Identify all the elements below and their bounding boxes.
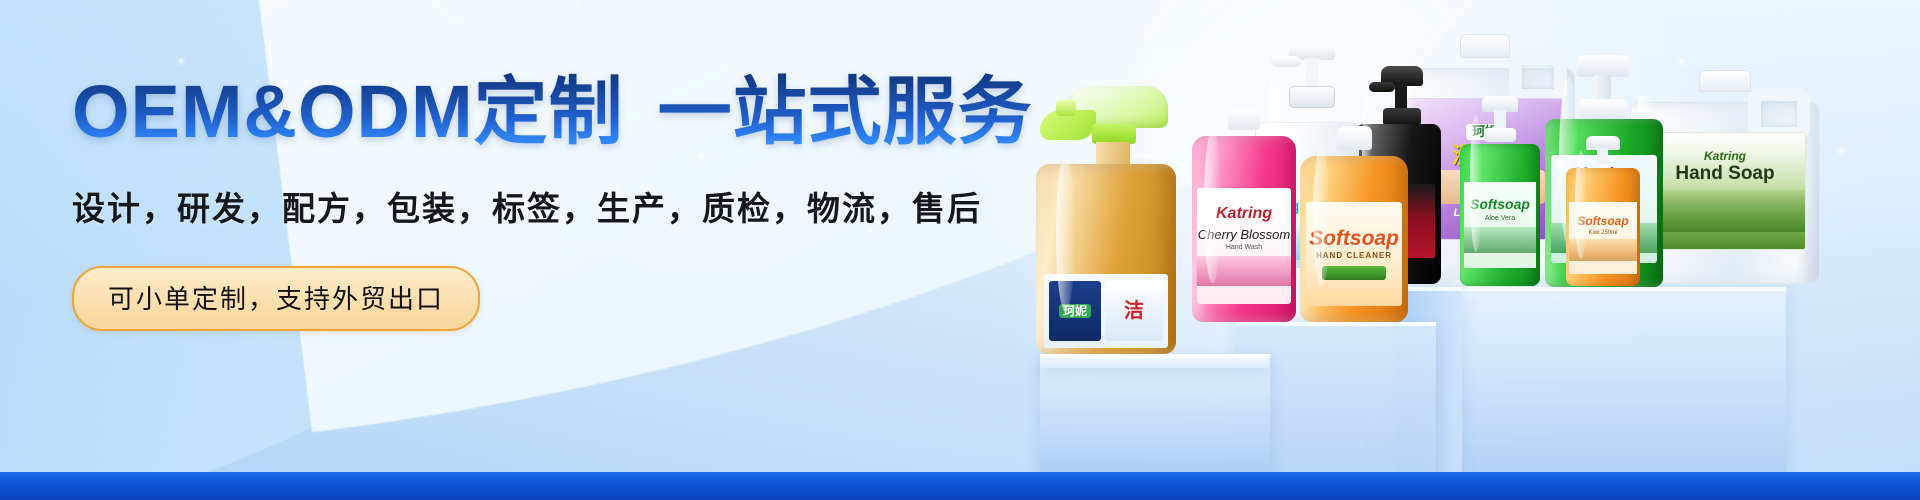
spray-bottle-brand: 珂妮 bbox=[1059, 304, 1091, 319]
product-stage: Katring Hand Soap 珂妮 洗手液 Liquid Soap bbox=[1000, 42, 1920, 472]
cherry-blossom-variant: Cherry Blossom bbox=[1198, 228, 1290, 242]
small-order-badge[interactable]: 可小单定制，支持外贸出口 bbox=[72, 266, 480, 331]
softsoap-orange-label: Softsoap HAND CLEANER bbox=[1306, 202, 1402, 306]
softsoap-green-bottle: Softsoap Aloe Vera bbox=[1460, 96, 1540, 286]
cherry-blossom-sub: Hand Wash bbox=[1226, 244, 1262, 251]
softsoap-green-brand: Softsoap bbox=[1470, 197, 1530, 212]
pedestal-left-top bbox=[1040, 354, 1270, 368]
softsoap-orange-small-label: Softsoap Kiwi 250ml bbox=[1569, 202, 1637, 274]
spray-bottle-text: 洁 bbox=[1124, 301, 1144, 322]
page-title: OEM&ODM定制一站式服务 bbox=[72, 72, 1072, 152]
softsoap-green-label: Softsoap Aloe Vera bbox=[1464, 182, 1536, 268]
spray-cleaner-bottle: 珂妮 洁 bbox=[1036, 86, 1176, 354]
service-list: 设计，研发，配方，包装，标签，生产，质检，物流，售后 bbox=[72, 182, 1072, 230]
cherry-blossom-handwash: Katring Cherry Blossom Hand Wash bbox=[1192, 108, 1296, 322]
promo-banner: OEM&ODM定制一站式服务 设计，研发，配方，包装，标签，生产，质检，物流，售… bbox=[0, 0, 1920, 500]
softsoap-orange-bottle: Softsoap HAND CLEANER bbox=[1300, 126, 1408, 322]
pedestal-left bbox=[1040, 362, 1270, 472]
softsoap-orange-sub: HAND CLEANER bbox=[1316, 252, 1392, 260]
softsoap-orange-small-bottle: Softsoap Kiwi 250ml bbox=[1566, 136, 1640, 286]
green-jerrycan-label: Katring Hand Soap bbox=[1644, 132, 1806, 250]
softsoap-green-sub: Aloe Vera bbox=[1485, 215, 1515, 222]
softsoap-orange-small-brand: Softsoap bbox=[1577, 215, 1628, 228]
headline-sub: 一站式服务 bbox=[658, 70, 1033, 153]
softsoap-orange-brand: Softsoap bbox=[1309, 228, 1399, 250]
cherry-blossom-label: Katring Cherry Blossom Hand Wash bbox=[1197, 188, 1291, 304]
softsoap-orange-small-sub: Kiwi 250ml bbox=[1588, 230, 1617, 236]
spray-collar bbox=[1092, 124, 1136, 144]
spray-bottle-label: 珂妮 洁 bbox=[1044, 274, 1168, 348]
green-jerrycan-title: Hand Soap bbox=[1675, 164, 1774, 184]
headline-main: OEM&ODM定制 bbox=[72, 70, 624, 153]
copy-block: OEM&ODM定制一站式服务 设计，研发，配方，包装，标签，生产，质检，物流，售… bbox=[72, 72, 1072, 331]
green-jerrycan-brand: Katring bbox=[1704, 150, 1746, 163]
cherry-blossom-brand: Katring bbox=[1216, 206, 1272, 223]
bottom-accent-bar bbox=[0, 472, 1920, 500]
